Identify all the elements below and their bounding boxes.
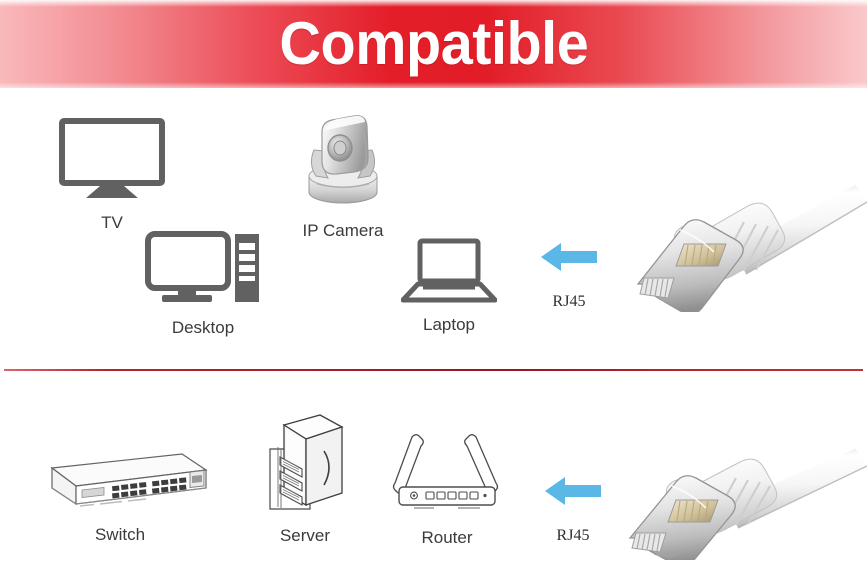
network-switch-icon	[30, 448, 210, 519]
device-desktop: Desktop	[145, 231, 261, 338]
device-label: Router	[421, 529, 472, 548]
device-router: Router	[390, 425, 504, 548]
rj45-connector-top: RJ45	[539, 240, 599, 311]
page-title: Compatible	[279, 14, 588, 74]
device-label: TV	[101, 214, 123, 233]
laptop-icon	[401, 238, 497, 309]
device-ip-camera: IP Camera	[297, 110, 389, 241]
tv-icon	[58, 118, 166, 207]
device-label: Server	[280, 527, 330, 546]
ip-camera-icon	[297, 110, 389, 215]
device-tv: TV	[58, 118, 166, 233]
device-server: Server	[262, 413, 348, 546]
desktop-icon	[145, 231, 261, 312]
rj45-label: RJ45	[557, 527, 590, 545]
wireless-router-icon	[390, 425, 504, 522]
rj45-cable-photo-bottom	[608, 448, 867, 565]
server-rack-icon	[262, 413, 348, 520]
page-banner: Compatible	[0, 0, 867, 88]
device-switch: Switch	[30, 448, 210, 545]
device-label: Laptop	[423, 316, 475, 335]
rj45-cable-photo-top	[622, 182, 867, 317]
rj45-connector-bottom: RJ45	[543, 474, 603, 545]
device-label: Desktop	[172, 319, 234, 338]
arrow-left-icon	[539, 240, 599, 279]
device-laptop: Laptop	[401, 238, 497, 335]
device-label: Switch	[95, 526, 145, 545]
device-label: IP Camera	[303, 222, 384, 241]
rj45-label: RJ45	[553, 293, 586, 311]
arrow-left-icon	[543, 474, 603, 513]
section-divider	[4, 369, 863, 371]
